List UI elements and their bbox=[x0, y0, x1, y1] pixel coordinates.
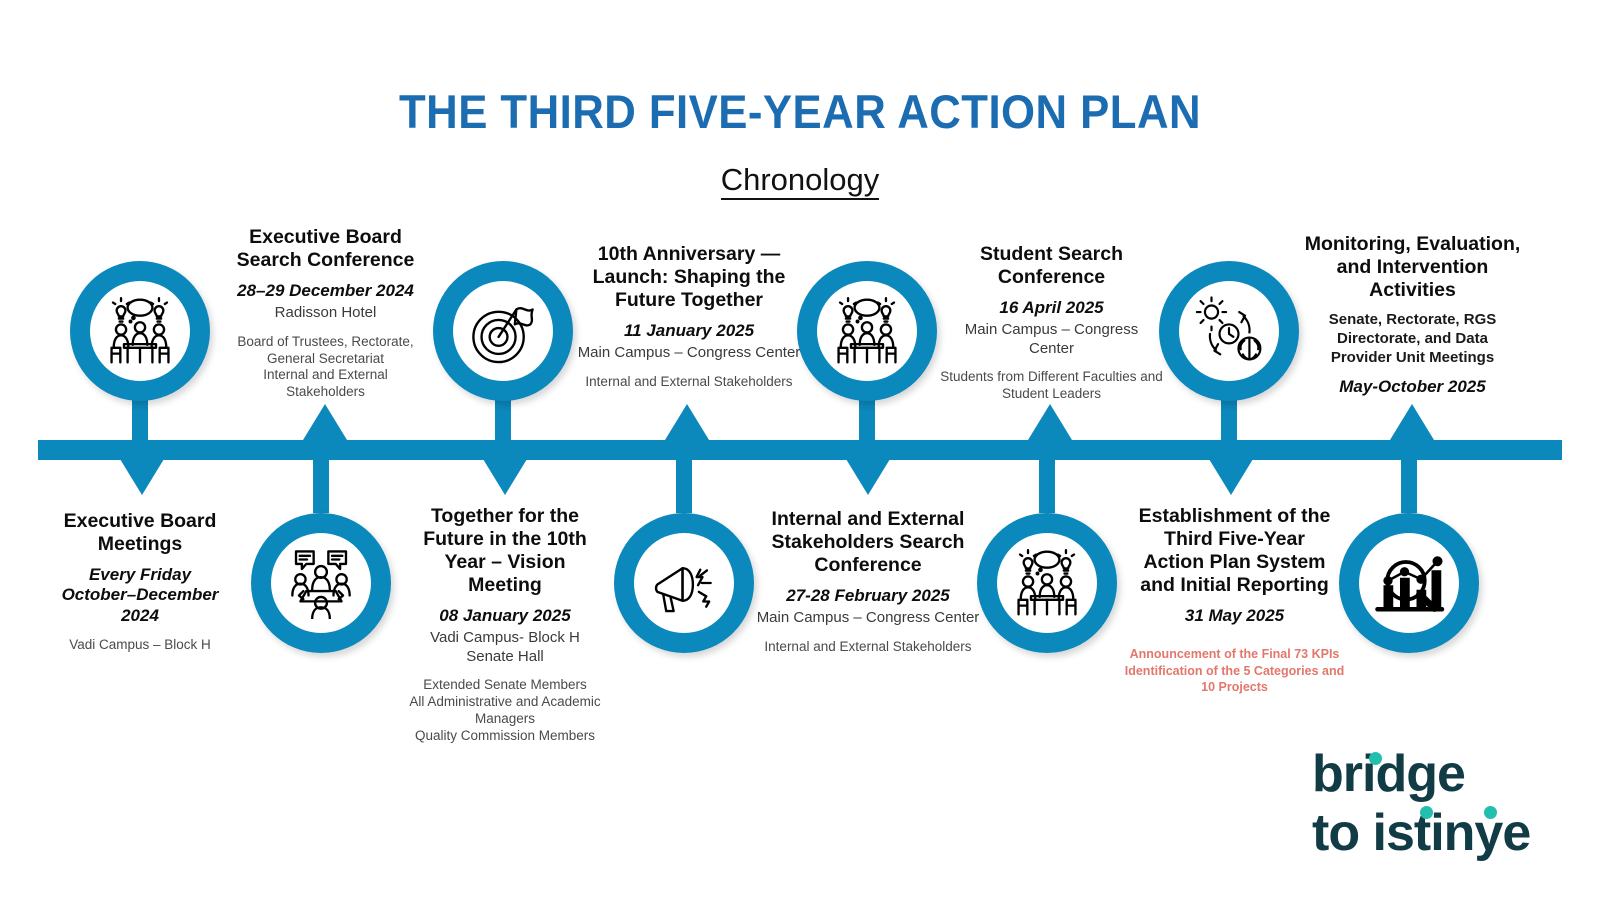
event-date: 28–29 December 2024 bbox=[218, 281, 433, 301]
event-title: Student SearchConference bbox=[930, 243, 1173, 289]
node-bottom-1[interactable] bbox=[251, 513, 391, 653]
event-date: 11 January 2025 bbox=[570, 321, 808, 341]
event-participants: Students from Different Faculties andStu… bbox=[930, 369, 1173, 403]
meeting-brainstorm-icon bbox=[830, 296, 904, 366]
event-venue: Main Campus – CongressCenter bbox=[930, 321, 1173, 358]
logo-dot-i-istinye bbox=[1420, 806, 1433, 819]
stem-bottom-2 bbox=[676, 455, 692, 513]
event-block-top-4: Monitoring, Evaluation,and InterventionA… bbox=[1290, 233, 1535, 398]
event-title: Establishment of theThird Five-YearActio… bbox=[1112, 505, 1357, 597]
logo-dot-i2-istinye bbox=[1484, 806, 1497, 819]
page-title: THE THIRD FIVE-YEAR ACTION PLAN bbox=[56, 84, 1544, 139]
event-participants: Internal and External Stakeholders bbox=[748, 639, 988, 656]
event-date: 27-28 February 2025 bbox=[748, 586, 988, 606]
page-subtitle-text: Chronology bbox=[721, 162, 880, 200]
arrow-up-3 bbox=[1028, 404, 1072, 440]
event-title: Internal and ExternalStakeholders Search… bbox=[748, 508, 988, 577]
event-date: 08 January 2025 bbox=[400, 606, 610, 626]
timeline-spine bbox=[38, 440, 1562, 460]
event-participants: Internal and External Stakeholders bbox=[570, 374, 808, 391]
node-top-2[interactable] bbox=[433, 261, 573, 401]
group-discussion-icon bbox=[284, 547, 358, 619]
brand-logo: bridge to istinye bbox=[1312, 748, 1580, 860]
target-flag-icon bbox=[466, 294, 540, 368]
event-title: Executive BoardMeetings bbox=[36, 510, 244, 556]
node-bottom-2[interactable] bbox=[614, 513, 754, 653]
chart-magnifier-icon bbox=[1370, 546, 1448, 620]
event-venue: Radisson Hotel bbox=[218, 304, 433, 322]
arrow-up-1 bbox=[303, 404, 347, 440]
event-date: May-October 2025 bbox=[1290, 377, 1535, 397]
arrow-down-1 bbox=[120, 459, 164, 495]
arrow-down-4 bbox=[1209, 459, 1253, 495]
arrow-down-3 bbox=[846, 459, 890, 495]
gears-clock-brain-icon bbox=[1191, 296, 1267, 366]
event-block-bottom-4: Establishment of theThird Five-YearActio… bbox=[1112, 505, 1357, 695]
event-title: Together for theFuture in the 10thYear –… bbox=[400, 505, 610, 597]
event-venue: Main Campus – Congress Center bbox=[748, 609, 988, 627]
node-top-1[interactable] bbox=[70, 261, 210, 401]
arrow-down-2 bbox=[483, 459, 527, 495]
stem-bottom-1 bbox=[313, 455, 329, 513]
logo-dot-i-bridge bbox=[1369, 752, 1382, 765]
event-date: 16 April 2025 bbox=[930, 298, 1173, 318]
node-top-4[interactable] bbox=[1159, 261, 1299, 401]
page-subtitle: Chronology bbox=[0, 162, 1600, 198]
event-block-top-2: 10th Anniversary —Launch: Shaping theFut… bbox=[570, 243, 808, 391]
node-top-3[interactable] bbox=[797, 261, 937, 401]
event-participants: Senate, Rectorate, RGSDirectorate, and D… bbox=[1290, 311, 1535, 367]
event-block-bottom-2: Together for theFuture in the 10thYear –… bbox=[400, 505, 610, 744]
meeting-brainstorm-icon bbox=[103, 296, 177, 366]
node-bottom-4[interactable] bbox=[1339, 513, 1479, 653]
event-venue: Vadi Campus – Block H bbox=[36, 637, 244, 654]
event-block-bottom-3: Internal and ExternalStakeholders Search… bbox=[748, 508, 988, 656]
event-participants: Extended Senate MembersAll Administrativ… bbox=[400, 677, 610, 745]
logo-line-1: bridge bbox=[1312, 748, 1580, 800]
arrow-up-2 bbox=[665, 404, 709, 440]
infographic-canvas: THE THIRD FIVE-YEAR ACTION PLAN Chronolo… bbox=[0, 0, 1600, 900]
event-block-top-1: Executive BoardSearch Conference 28–29 D… bbox=[218, 226, 433, 401]
event-venue: Vadi Campus- Block HSenate Hall bbox=[400, 629, 610, 666]
node-bottom-3[interactable] bbox=[977, 513, 1117, 653]
event-participants: Board of Trustees, Rectorate,General Sec… bbox=[218, 334, 433, 402]
event-venue: Main Campus – Congress Center bbox=[570, 344, 808, 362]
event-block-top-3: Student SearchConference 16 April 2025 M… bbox=[930, 243, 1173, 403]
event-date: Every FridayOctober–December2024 bbox=[36, 565, 244, 626]
event-title: Executive BoardSearch Conference bbox=[218, 226, 433, 272]
meeting-brainstorm-icon bbox=[1010, 548, 1084, 618]
event-date: 31 May 2025 bbox=[1112, 606, 1357, 626]
stem-bottom-4 bbox=[1401, 455, 1417, 513]
event-block-bottom-1: Executive BoardMeetings Every FridayOcto… bbox=[36, 510, 244, 654]
event-title: 10th Anniversary —Launch: Shaping theFut… bbox=[570, 243, 808, 312]
logo-line-2: to istinye bbox=[1312, 807, 1580, 859]
event-title: Monitoring, Evaluation,and InterventionA… bbox=[1290, 233, 1535, 302]
arrow-up-4 bbox=[1390, 404, 1434, 440]
stem-bottom-3 bbox=[1039, 455, 1055, 513]
event-note: Announcement of the Final 73 KPIsIdentif… bbox=[1112, 646, 1357, 695]
megaphone-icon bbox=[647, 546, 721, 620]
